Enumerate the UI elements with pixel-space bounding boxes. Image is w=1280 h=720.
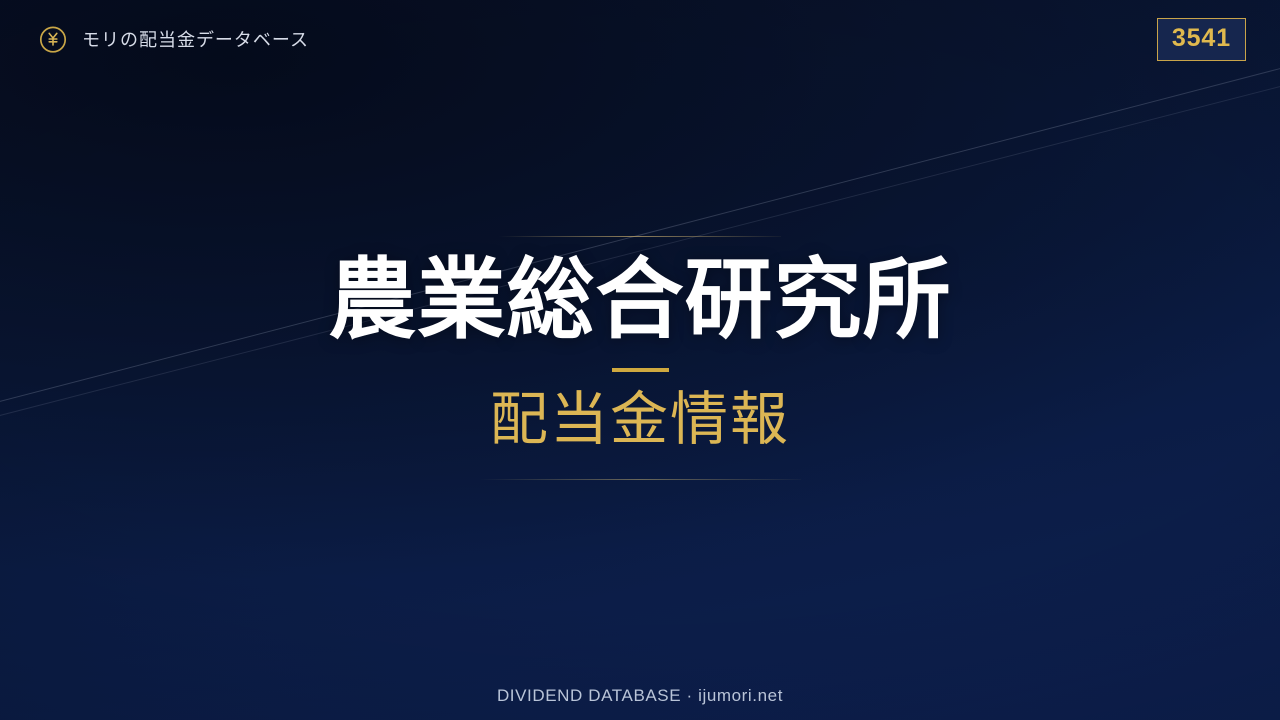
- hero-top-rule: [499, 236, 781, 237]
- hero-bottom-rule: [479, 479, 801, 480]
- brand-title: モリの配当金データベース: [82, 26, 309, 52]
- footer-caption: DIVIDEND DATABASE · ijumori.net: [0, 686, 1280, 706]
- brand[interactable]: モリの配当金データベース: [38, 24, 309, 54]
- ticker-code-badge[interactable]: 3541: [1157, 18, 1246, 61]
- header-bar: モリの配当金データベース 3541: [0, 0, 1280, 78]
- yen-circle-icon: [38, 24, 68, 54]
- page-subtitle: 配当金情報: [490, 388, 790, 452]
- hero-block: 農業総合研究所 配当金情報: [0, 236, 1280, 480]
- company-name-title: 農業総合研究所: [328, 253, 951, 346]
- slide-canvas: モリの配当金データベース 3541 農業総合研究所 配当金情報 DIVIDEND…: [0, 0, 1280, 720]
- gold-dash-divider: [612, 368, 669, 372]
